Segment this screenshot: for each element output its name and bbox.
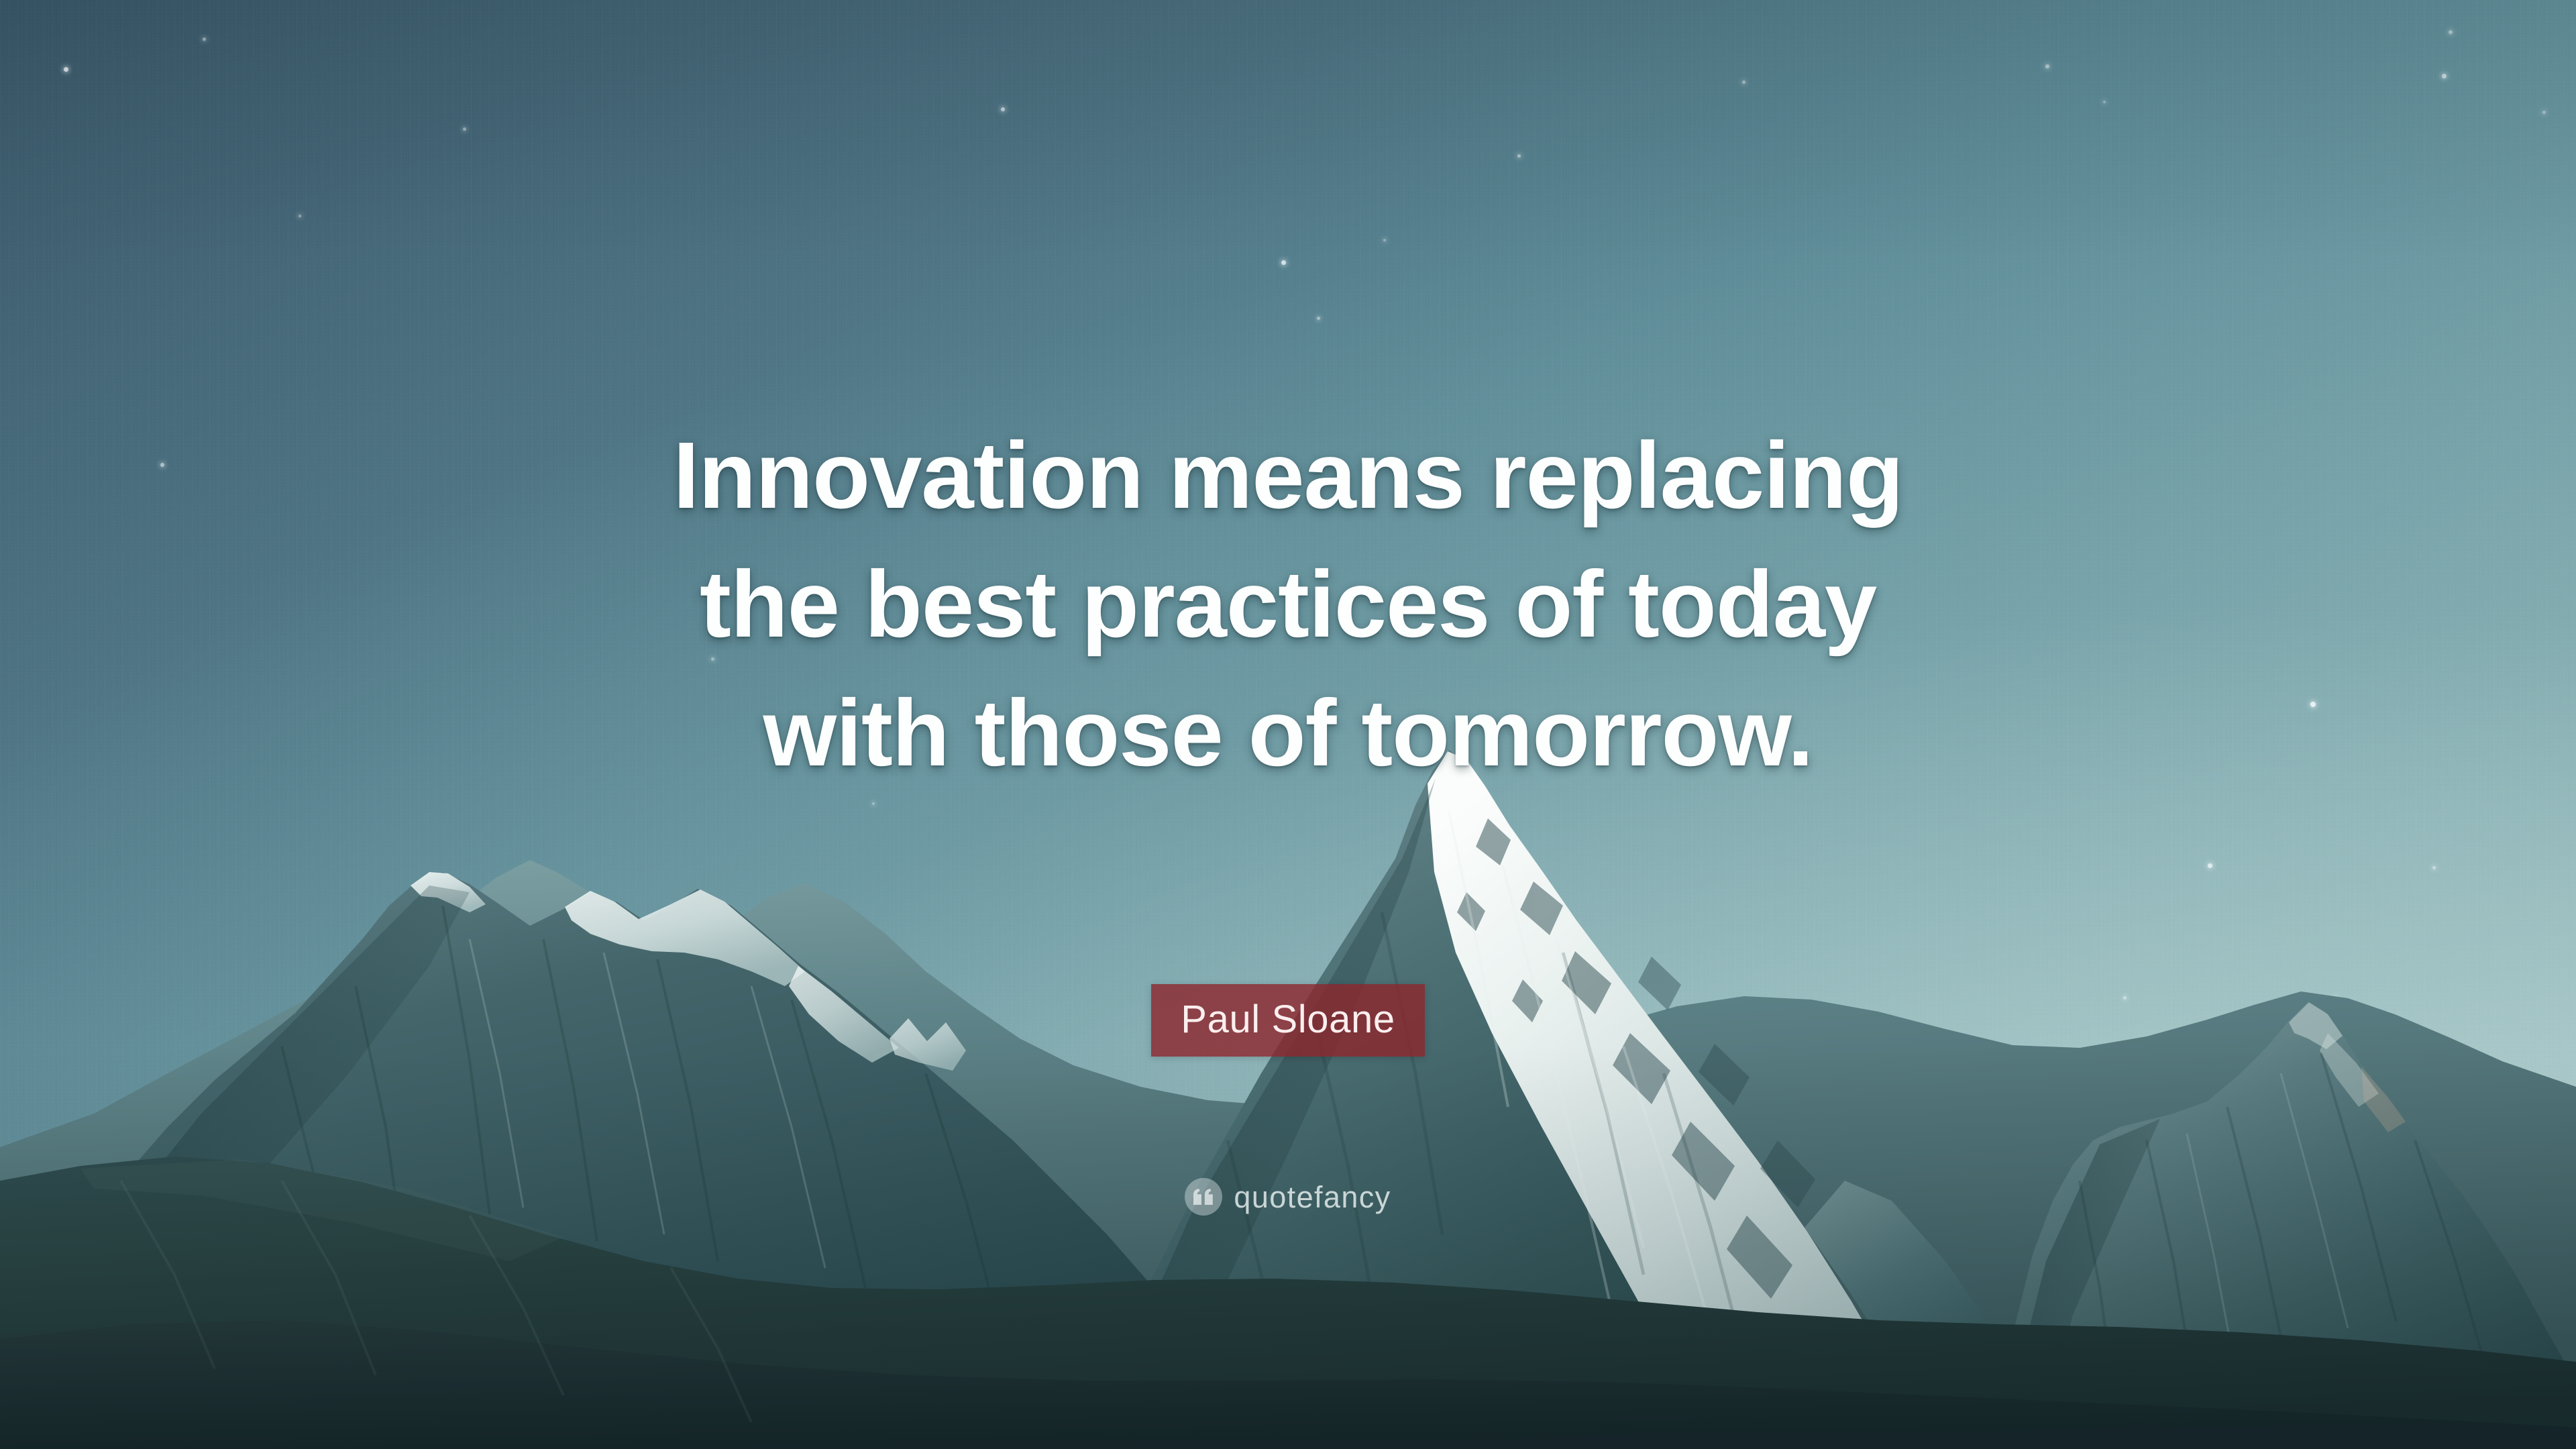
quote-poster: Innovation means replacing the best prac… <box>0 0 2576 1449</box>
quote-line-2: the best practices of today <box>201 539 2375 668</box>
quote-text-block: Innovation means replacing the best prac… <box>0 411 2576 797</box>
quote-line-1: Innovation means replacing <box>201 411 2375 539</box>
quotefancy-watermark[interactable]: quotefancy <box>0 1178 2576 1216</box>
author-name-badge: Paul Sloane <box>1151 984 1424 1057</box>
quote-line-3: with those of tomorrow. <box>201 668 2375 797</box>
quotefancy-brand-label: quotefancy <box>1234 1182 1391 1212</box>
double-quote-icon <box>1185 1178 1222 1216</box>
author-attribution: Paul Sloane <box>0 984 2576 1057</box>
